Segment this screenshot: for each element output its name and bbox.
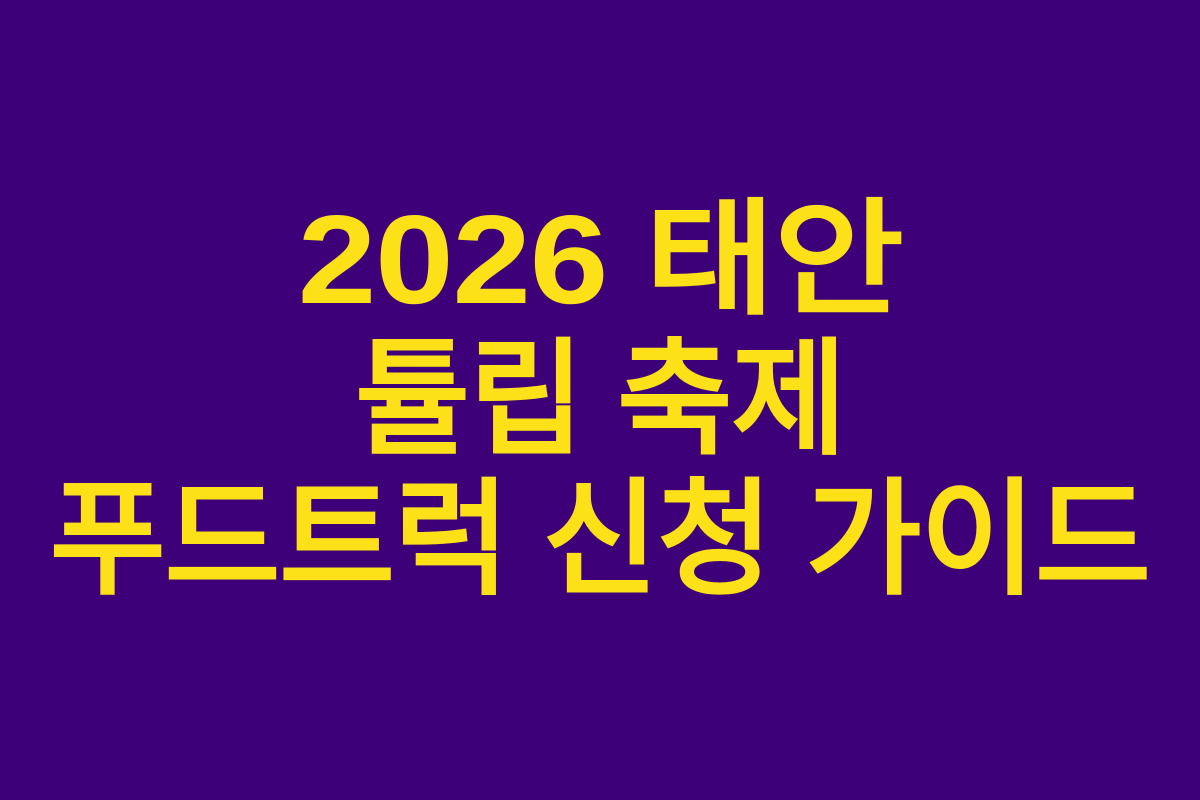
banner-title-line-1: 2026 태안 (298, 190, 903, 330)
banner-title-line-2: 튤립 축제 (354, 330, 845, 470)
banner-title-line-3: 푸드트럭 신청 가이드 (50, 470, 1150, 610)
banner-title-block: 2026 태안 튤립 축제 푸드트럭 신청 가이드 (0, 190, 1200, 610)
promo-banner: 2026 태안 튤립 축제 푸드트럭 신청 가이드 (0, 0, 1200, 800)
